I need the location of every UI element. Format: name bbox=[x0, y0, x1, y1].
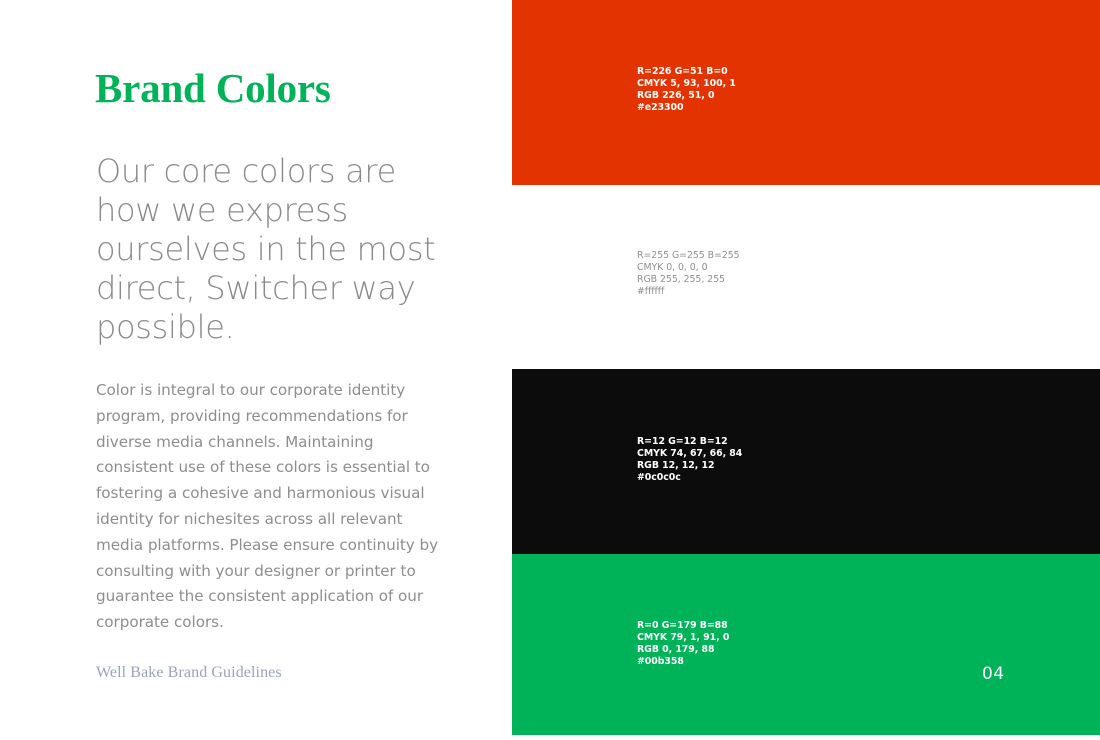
page-number: 04 bbox=[982, 664, 1004, 684]
rgb-values-line: RGB 12, 12, 12 bbox=[637, 460, 742, 472]
rgb-notation-line: R=255 G=255 B=255 bbox=[637, 250, 740, 262]
rgb-values-line: RGB 226, 51, 0 bbox=[637, 90, 736, 102]
body-paragraph: Color is integral to our corporate ident… bbox=[96, 378, 444, 636]
rgb-notation-line: R=12 G=12 B=12 bbox=[637, 436, 742, 448]
cmyk-line: CMYK 74, 67, 66, 84 bbox=[637, 448, 742, 460]
footer-brand-guidelines-label: Well Bake Brand Guidelines bbox=[96, 664, 282, 682]
hex-line: #00b358 bbox=[637, 656, 729, 668]
color-swatch-white: R=255 G=255 B=255 CMYK 0, 0, 0, 0 RGB 25… bbox=[512, 185, 1100, 369]
cmyk-line: CMYK 79, 1, 91, 0 bbox=[637, 632, 729, 644]
hex-line: #e23300 bbox=[637, 102, 736, 114]
color-spec-green: R=0 G=179 B=88 CMYK 79, 1, 91, 0 RGB 0, … bbox=[637, 620, 729, 668]
text-column: Brand Colors Our core colors are how we … bbox=[0, 0, 512, 740]
rgb-notation-line: R=226 G=51 B=0 bbox=[637, 66, 736, 78]
rgb-notation-line: R=0 G=179 B=88 bbox=[637, 620, 729, 632]
cmyk-line: CMYK 5, 93, 100, 1 bbox=[637, 78, 736, 90]
color-spec-black: R=12 G=12 B=12 CMYK 74, 67, 66, 84 RGB 1… bbox=[637, 436, 742, 484]
rgb-values-line: RGB 0, 179, 88 bbox=[637, 644, 729, 656]
color-swatch-black: R=12 G=12 B=12 CMYK 74, 67, 66, 84 RGB 1… bbox=[512, 369, 1100, 554]
hex-line: #0c0c0c bbox=[637, 472, 742, 484]
color-swatch-green: R=0 G=179 B=88 CMYK 79, 1, 91, 0 RGB 0, … bbox=[512, 554, 1100, 735]
color-spec-red: R=226 G=51 B=0 CMYK 5, 93, 100, 1 RGB 22… bbox=[637, 66, 736, 114]
cmyk-line: CMYK 0, 0, 0, 0 bbox=[637, 262, 740, 274]
color-swatch-column: R=226 G=51 B=0 CMYK 5, 93, 100, 1 RGB 22… bbox=[512, 0, 1100, 740]
color-spec-white: R=255 G=255 B=255 CMYK 0, 0, 0, 0 RGB 25… bbox=[637, 250, 740, 298]
rgb-values-line: RGB 255, 255, 255 bbox=[637, 274, 740, 286]
subheading: Our core colors are how we express ourse… bbox=[96, 152, 446, 347]
page-title: Brand Colors bbox=[95, 64, 331, 112]
hex-line: #ffffff bbox=[637, 286, 740, 298]
color-swatch-red: R=226 G=51 B=0 CMYK 5, 93, 100, 1 RGB 22… bbox=[512, 0, 1100, 185]
brand-guidelines-page: Brand Colors Our core colors are how we … bbox=[0, 0, 1100, 740]
